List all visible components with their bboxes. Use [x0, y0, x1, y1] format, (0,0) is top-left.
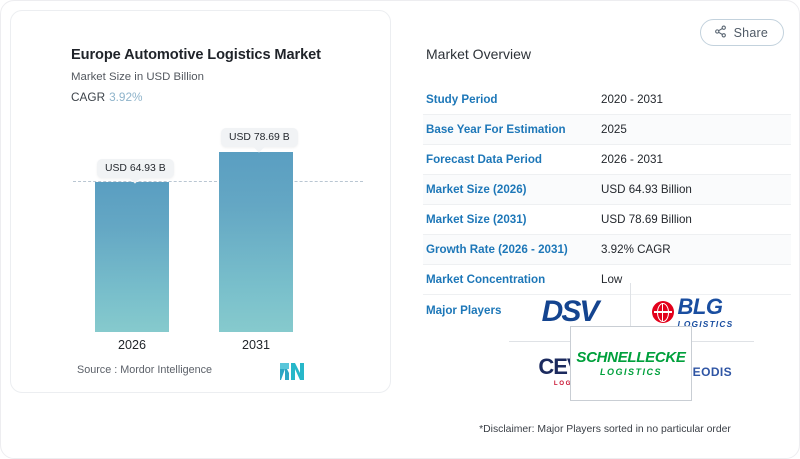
table-row: Market Size (2031) USD 78.69 Billion — [423, 205, 791, 235]
row-key: Study Period — [426, 93, 601, 106]
tooltip-tip — [254, 141, 265, 152]
row-value: 3.92% CAGR — [601, 243, 671, 256]
table-row: Market Size (2026) USD 64.93 Billion — [423, 175, 791, 205]
report-snapshot-page: Share Europe Automotive Logistics Market… — [0, 0, 800, 459]
globe-icon — [652, 301, 674, 323]
x-tick-2031: 2031 — [219, 338, 293, 352]
row-value: 2026 - 2031 — [601, 153, 663, 166]
row-value: 2020 - 2031 — [601, 93, 663, 106]
row-key: Growth Rate (2026 - 2031) — [426, 243, 601, 256]
bar-label-2031: USD 78.69 B — [221, 128, 298, 147]
row-key: Market Size (2031) — [426, 213, 601, 226]
market-overview-panel: Market Overview Study Period 2020 - 2031… — [421, 1, 791, 459]
major-players-logos: DSV BLG LOGISTICS CEV LOGISTICS — [509, 283, 754, 401]
table-row: Study Period 2020 - 2031 — [423, 85, 791, 115]
row-value: USD 78.69 Billion — [601, 213, 692, 226]
mordor-intelligence-logo — [280, 363, 304, 380]
logo-schnellecke-text: SCHNELLECKE — [576, 350, 685, 365]
logo-schnellecke-subtext: LOGISTICS — [600, 368, 662, 377]
table-row: Base Year For Estimation 2025 — [423, 115, 791, 145]
bar-2026 — [95, 182, 169, 332]
logo-schnellecke-logistics: SCHNELLECKE LOGISTICS — [570, 326, 692, 401]
bar-chart-plot: USD 64.93 B USD 78.69 B 2026 2031 Source… — [1, 1, 382, 384]
logo-dsv-text: DSV — [542, 295, 598, 329]
row-value: USD 64.93 Billion — [601, 183, 692, 196]
chart-source: Source : Mordor Intelligence — [77, 364, 212, 376]
logo-blg-text: BLG — [678, 296, 734, 318]
bar-2031 — [219, 152, 293, 332]
bar-label-2026: USD 64.93 B — [97, 159, 174, 178]
row-key: Market Size (2026) — [426, 183, 601, 196]
row-key: Forecast Data Period — [426, 153, 601, 166]
row-value: 2025 — [601, 123, 627, 136]
disclaimer-text: *Disclaimer: Major Players sorted in no … — [425, 424, 785, 435]
row-key: Base Year For Estimation — [426, 123, 601, 136]
table-row: Forecast Data Period 2026 - 2031 — [423, 145, 791, 175]
x-tick-2026: 2026 — [95, 338, 169, 352]
panel-title: Market Overview — [426, 46, 531, 62]
table-row: Growth Rate (2026 - 2031) 3.92% CAGR — [423, 235, 791, 265]
